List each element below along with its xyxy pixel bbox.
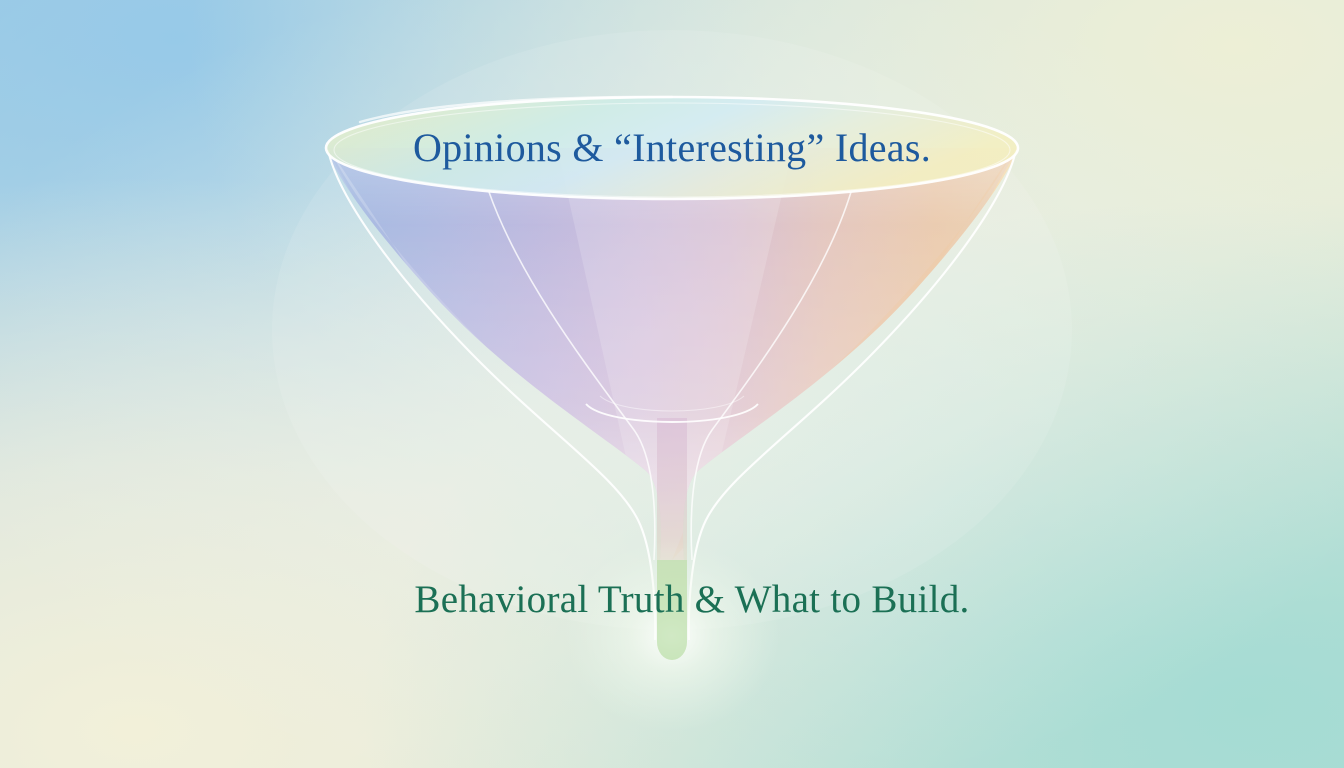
- diagram-canvas: Opinions & “Interesting” Ideas. Behavior…: [0, 0, 1344, 768]
- funnel-bottom-label: Behavioral Truth & What to Build.: [414, 578, 969, 621]
- funnel-top-label: Opinions & “Interesting” Ideas.: [413, 125, 931, 170]
